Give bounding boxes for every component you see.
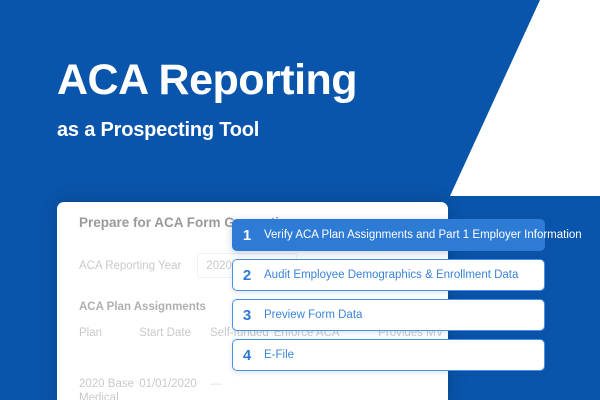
- banner-text-block: ACA Reporting as a Prospecting Tool: [57, 55, 477, 143]
- step-label-3: Preview Form Data: [261, 309, 362, 321]
- step-number-1: 1: [233, 227, 261, 244]
- reporting-year-label: ACA Reporting Year: [79, 260, 181, 272]
- step-item-3[interactable]: 3 Preview Form Data: [232, 299, 545, 331]
- page-subtitle: as a Prospecting Tool: [57, 105, 477, 143]
- step-label-4: E-File: [261, 349, 294, 361]
- step-item-4[interactable]: 4 E-File: [232, 339, 545, 371]
- step-item-2[interactable]: 2 Audit Employee Demographics & Enrollme…: [232, 259, 545, 291]
- reporting-year-value: 2020: [206, 260, 232, 272]
- slide-canvas: ACA Reporting as a Prospecting Tool Prep…: [0, 0, 600, 400]
- step-number-2: 2: [233, 267, 261, 284]
- page-title: ACA Reporting: [57, 55, 477, 105]
- cell-plan: 2020 Base Medical: [79, 377, 139, 400]
- step-label-1: Verify ACA Plan Assignments and Part 1 E…: [261, 229, 582, 241]
- column-header-start-date: Start Date: [139, 326, 210, 340]
- cell-start-date: 01/01/2020: [139, 377, 210, 391]
- step-number-3: 3: [233, 307, 261, 324]
- step-label-2: Audit Employee Demographics & Enrollment…: [261, 269, 518, 281]
- cell-self-funded: —: [210, 377, 274, 391]
- step-item-1[interactable]: 1 Verify ACA Plan Assignments and Part 1…: [232, 219, 545, 251]
- step-number-4: 4: [233, 347, 261, 364]
- plan-assignments-title: ACA Plan Assignments: [79, 301, 206, 313]
- column-header-plan: Plan: [79, 326, 139, 340]
